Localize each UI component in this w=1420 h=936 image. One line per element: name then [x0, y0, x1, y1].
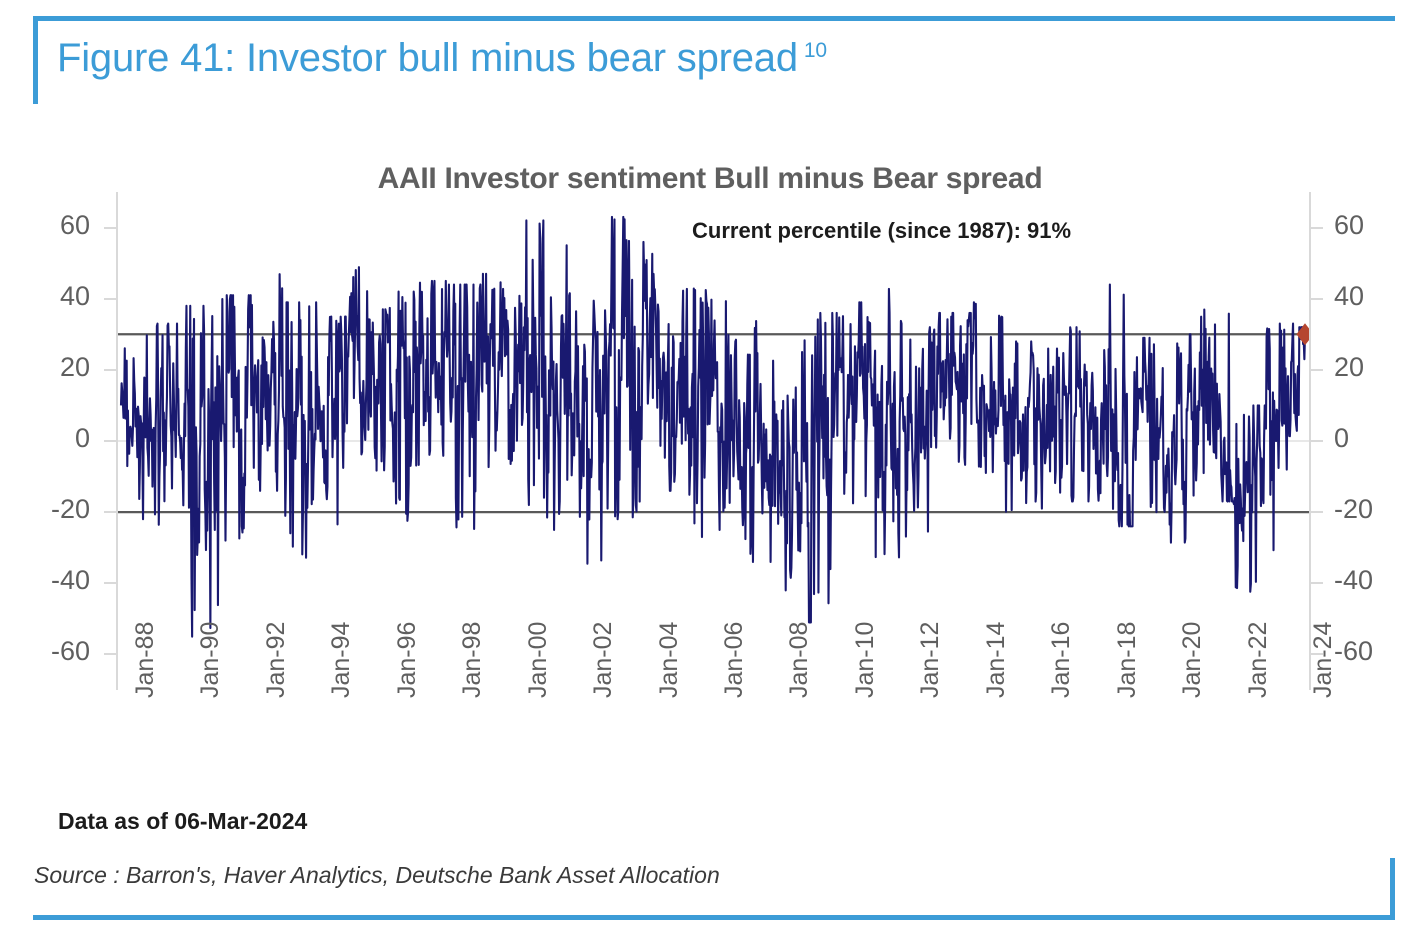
y-axis-label-l-20: 20 [60, 352, 90, 383]
y-axis-label-r--40: -40 [1334, 565, 1373, 596]
frame-top-rule [33, 16, 1395, 21]
x-axis-label-jan-10: Jan-10 [851, 622, 880, 698]
x-axis-label-jan-18: Jan-18 [1113, 622, 1142, 698]
series-line-aaii-bull-minus-bear [121, 217, 1305, 637]
x-axis-label-jan-00: Jan-00 [524, 622, 553, 698]
y-tick-r-40 [1310, 298, 1323, 300]
frame-bottom-rule [33, 915, 1395, 920]
x-axis-label-jan-08: Jan-08 [785, 622, 814, 698]
y-axis-label-l--40: -40 [51, 565, 90, 596]
x-axis-label-jan-14: Jan-14 [982, 622, 1011, 698]
y-tick-l-0 [104, 440, 117, 442]
x-axis-label-jan-06: Jan-06 [720, 622, 749, 698]
figure-footnote-marker: 10 [804, 39, 827, 62]
x-axis-label-jan-92: Jan-92 [262, 622, 291, 698]
x-axis-label-jan-98: Jan-98 [458, 622, 487, 698]
plot-canvas [116, 192, 1310, 690]
y-axis-label-l--20: -20 [51, 494, 90, 525]
x-axis-label-jan-24: Jan-24 [1309, 622, 1338, 698]
y-tick-r-0 [1310, 440, 1323, 442]
x-axis-label-jan-16: Jan-16 [1047, 622, 1076, 698]
y-axis-label-r-60: 60 [1334, 210, 1364, 241]
figure-page: Figure 41: Investor bull minus bear spre… [0, 0, 1420, 936]
y-axis-label-r-40: 40 [1334, 281, 1364, 312]
y-tick-l--40 [104, 582, 117, 584]
x-axis-label-jan-02: Jan-02 [589, 622, 618, 698]
x-axis-label-jan-22: Jan-22 [1244, 622, 1273, 698]
x-axis-label-jan-88: Jan-88 [131, 622, 160, 698]
y-tick-l-60 [104, 227, 117, 229]
frame-left-rule [33, 16, 38, 104]
figure-title: Figure 41: Investor bull minus bear spre… [57, 36, 827, 81]
y-axis-label-r--60: -60 [1334, 636, 1373, 667]
data-as-of-label: Data as of 06-Mar-2024 [58, 808, 307, 835]
y-axis-label-l-60: 60 [60, 210, 90, 241]
y-tick-l-20 [104, 369, 117, 371]
chart-title: AAII Investor sentiment Bull minus Bear … [0, 162, 1420, 196]
y-tick-l--60 [104, 653, 117, 655]
y-axis-label-r-0: 0 [1334, 423, 1349, 454]
y-axis-label-r--20: -20 [1334, 494, 1373, 525]
x-axis-label-jan-96: Jan-96 [393, 622, 422, 698]
x-axis-label-jan-90: Jan-90 [196, 622, 225, 698]
y-axis-label-l-0: 0 [75, 423, 90, 454]
figure-title-text: Figure 41: Investor bull minus bear spre… [57, 36, 798, 80]
chart-area: AAII Investor sentiment Bull minus Bear … [0, 150, 1420, 810]
x-axis-label-jan-04: Jan-04 [655, 622, 684, 698]
y-tick-r--40 [1310, 582, 1323, 584]
x-axis-label-jan-12: Jan-12 [916, 622, 945, 698]
source-label: Source : Barron's, Haver Analytics, Deut… [34, 862, 720, 889]
y-axis-label-l-40: 40 [60, 281, 90, 312]
series-svg [116, 192, 1310, 690]
y-tick-r-20 [1310, 369, 1323, 371]
y-tick-l-40 [104, 298, 117, 300]
y-tick-r--20 [1310, 511, 1323, 513]
x-axis-label-jan-94: Jan-94 [327, 622, 356, 698]
frame-right-rule [1390, 858, 1395, 920]
x-axis-label-jan-20: Jan-20 [1178, 622, 1207, 698]
y-tick-r-60 [1310, 227, 1323, 229]
y-tick-l--20 [104, 511, 117, 513]
y-axis-label-r-20: 20 [1334, 352, 1364, 383]
y-axis-label-l--60: -60 [51, 636, 90, 667]
